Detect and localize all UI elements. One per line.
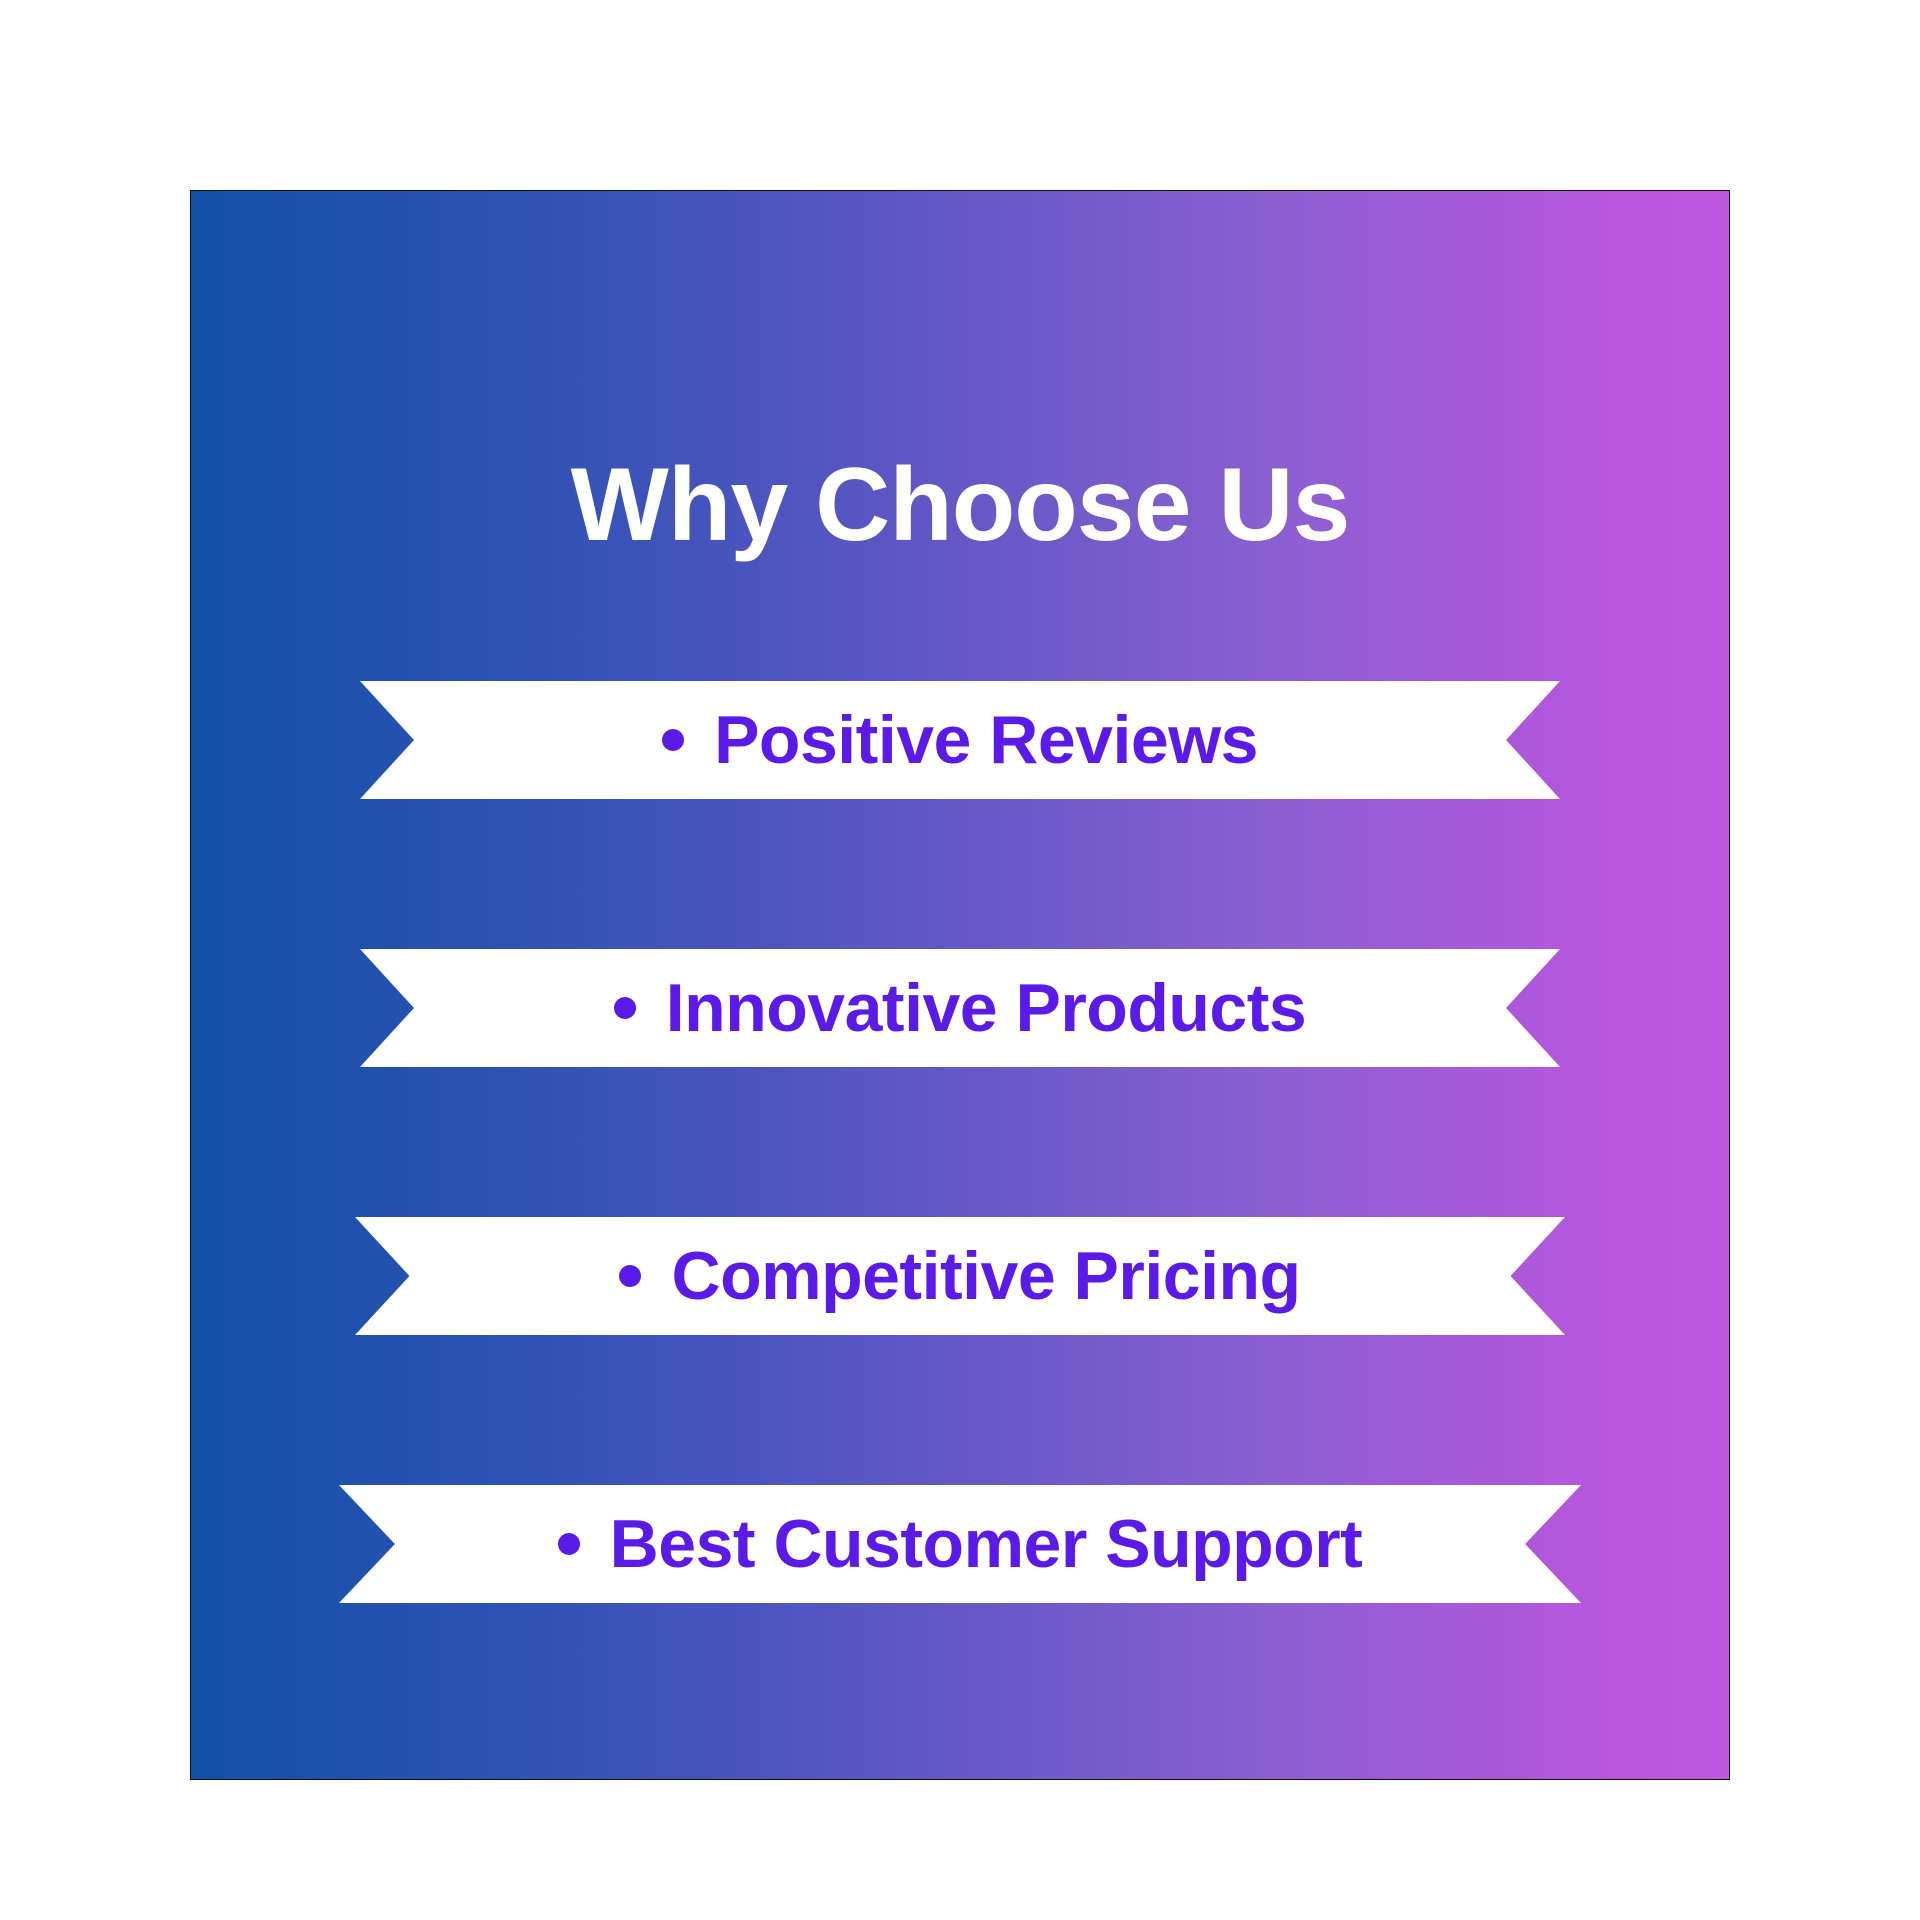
bullet-dot-icon [614, 997, 636, 1019]
ribbon-row: Best Customer Support [191, 1485, 1729, 1753]
benefit-ribbon-positive-reviews[interactable]: Positive Reviews [360, 681, 1560, 799]
ribbon-content: Positive Reviews [662, 706, 1258, 774]
ribbon-content: Competitive Pricing [619, 1242, 1300, 1310]
ribbon-row: Innovative Products [191, 949, 1729, 1217]
benefit-ribbon-competitive-pricing[interactable]: Competitive Pricing [355, 1217, 1565, 1335]
bullet-dot-icon [619, 1265, 641, 1287]
ribbon-label: Innovative Products [666, 974, 1306, 1042]
ribbon-label: Competitive Pricing [671, 1242, 1300, 1310]
benefit-ribbon-innovative-products[interactable]: Innovative Products [360, 949, 1560, 1067]
page-title: Why Choose Us [191, 453, 1729, 557]
ribbon-label: Best Customer Support [610, 1510, 1363, 1578]
bullet-dot-icon [558, 1533, 580, 1555]
ribbon-row: Competitive Pricing [191, 1217, 1729, 1485]
ribbon-content: Innovative Products [614, 974, 1306, 1042]
ribbon-row: Positive Reviews [191, 681, 1729, 949]
benefit-ribbon-best-customer-support[interactable]: Best Customer Support [339, 1485, 1581, 1603]
ribbon-label: Positive Reviews [714, 706, 1258, 774]
poster-canvas: Why Choose Us Positive Reviews Innovativ… [0, 0, 1920, 1920]
bullet-dot-icon [662, 729, 684, 751]
benefit-ribbon-list: Positive Reviews Innovative Products Com [191, 681, 1729, 1753]
why-choose-us-card: Why Choose Us Positive Reviews Innovativ… [190, 190, 1730, 1780]
ribbon-content: Best Customer Support [558, 1510, 1363, 1578]
